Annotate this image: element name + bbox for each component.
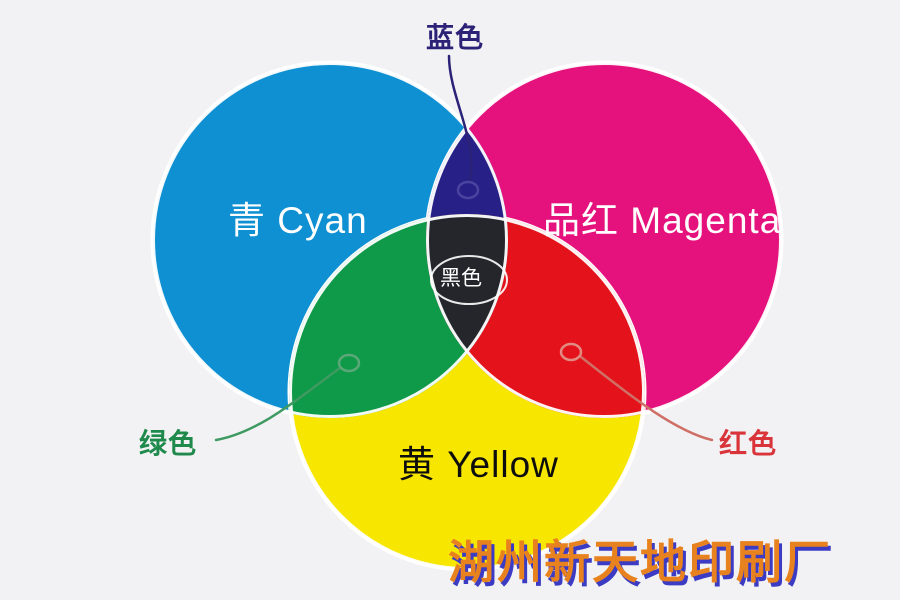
venn-diagram-graphic xyxy=(0,0,900,600)
cmyk-venn-diagram: 青 Cyan 品红 Magenta 黄 Yellow 黑色 蓝色 绿色 红色 湖… xyxy=(0,0,900,600)
